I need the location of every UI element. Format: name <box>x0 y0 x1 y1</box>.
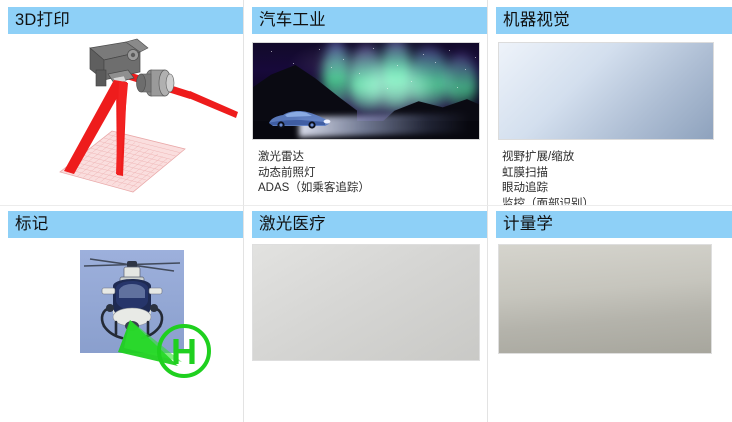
card-laser-medical: 激光医疗 <box>244 205 488 422</box>
card-marking: 标记 <box>0 205 244 422</box>
card-header-metrology: 计量学 <box>496 211 732 238</box>
card-header-3d-printing: 3D打印 <box>8 7 243 34</box>
car-silhouette <box>267 107 331 129</box>
helicopter-projecting-green-h-helipad: H <box>0 240 244 380</box>
projection-overlay-svg: H <box>0 240 244 380</box>
helipad-h-glyph: H <box>171 331 197 372</box>
green-laser-scanners-over-conveyor <box>498 244 712 354</box>
card-machine-vision: 机器视觉 <box>488 0 732 205</box>
card-title: 3D打印 <box>15 12 70 29</box>
galvo-scanner-laser-diagram <box>0 34 244 204</box>
card-header-marking: 标记 <box>8 211 243 238</box>
card-caption: 视野扩展/缩放 虹膜扫描 眼动追踪 监控（面部识别） <box>502 150 726 205</box>
card-title: 计量学 <box>503 216 553 233</box>
industrial-robotic-assembly-line <box>498 42 714 140</box>
card-title: 激光医疗 <box>259 216 326 233</box>
factory-background <box>499 43 713 139</box>
clinic-background <box>253 245 479 360</box>
card-title: 标记 <box>15 216 48 233</box>
car-under-aurora-with-headlight-beam <box>252 42 480 140</box>
card-title: 机器视觉 <box>503 12 570 29</box>
card-3d-printing: 3D打印 <box>0 0 244 205</box>
warehouse-background <box>499 245 711 353</box>
ophthalmic-oct-eye-examination <box>252 244 480 361</box>
card-header-machine-vision: 机器视觉 <box>496 7 732 34</box>
beam-expander <box>137 70 175 96</box>
card-metrology: 计量学 <box>488 205 732 422</box>
galvo-diagram-svg <box>0 34 244 204</box>
application-grid: 3D打印 <box>0 0 732 422</box>
card-automotive: 汽车工业 <box>244 0 488 205</box>
application-overview-sheet: 3D打印 <box>0 0 732 422</box>
card-header-automotive: 汽车工业 <box>252 7 487 34</box>
card-caption: 激光雷达 动态前照灯 ADAS（如乘客追踪） <box>258 150 481 197</box>
card-title: 汽车工业 <box>259 12 326 29</box>
card-header-laser-medical: 激光医疗 <box>252 211 487 238</box>
